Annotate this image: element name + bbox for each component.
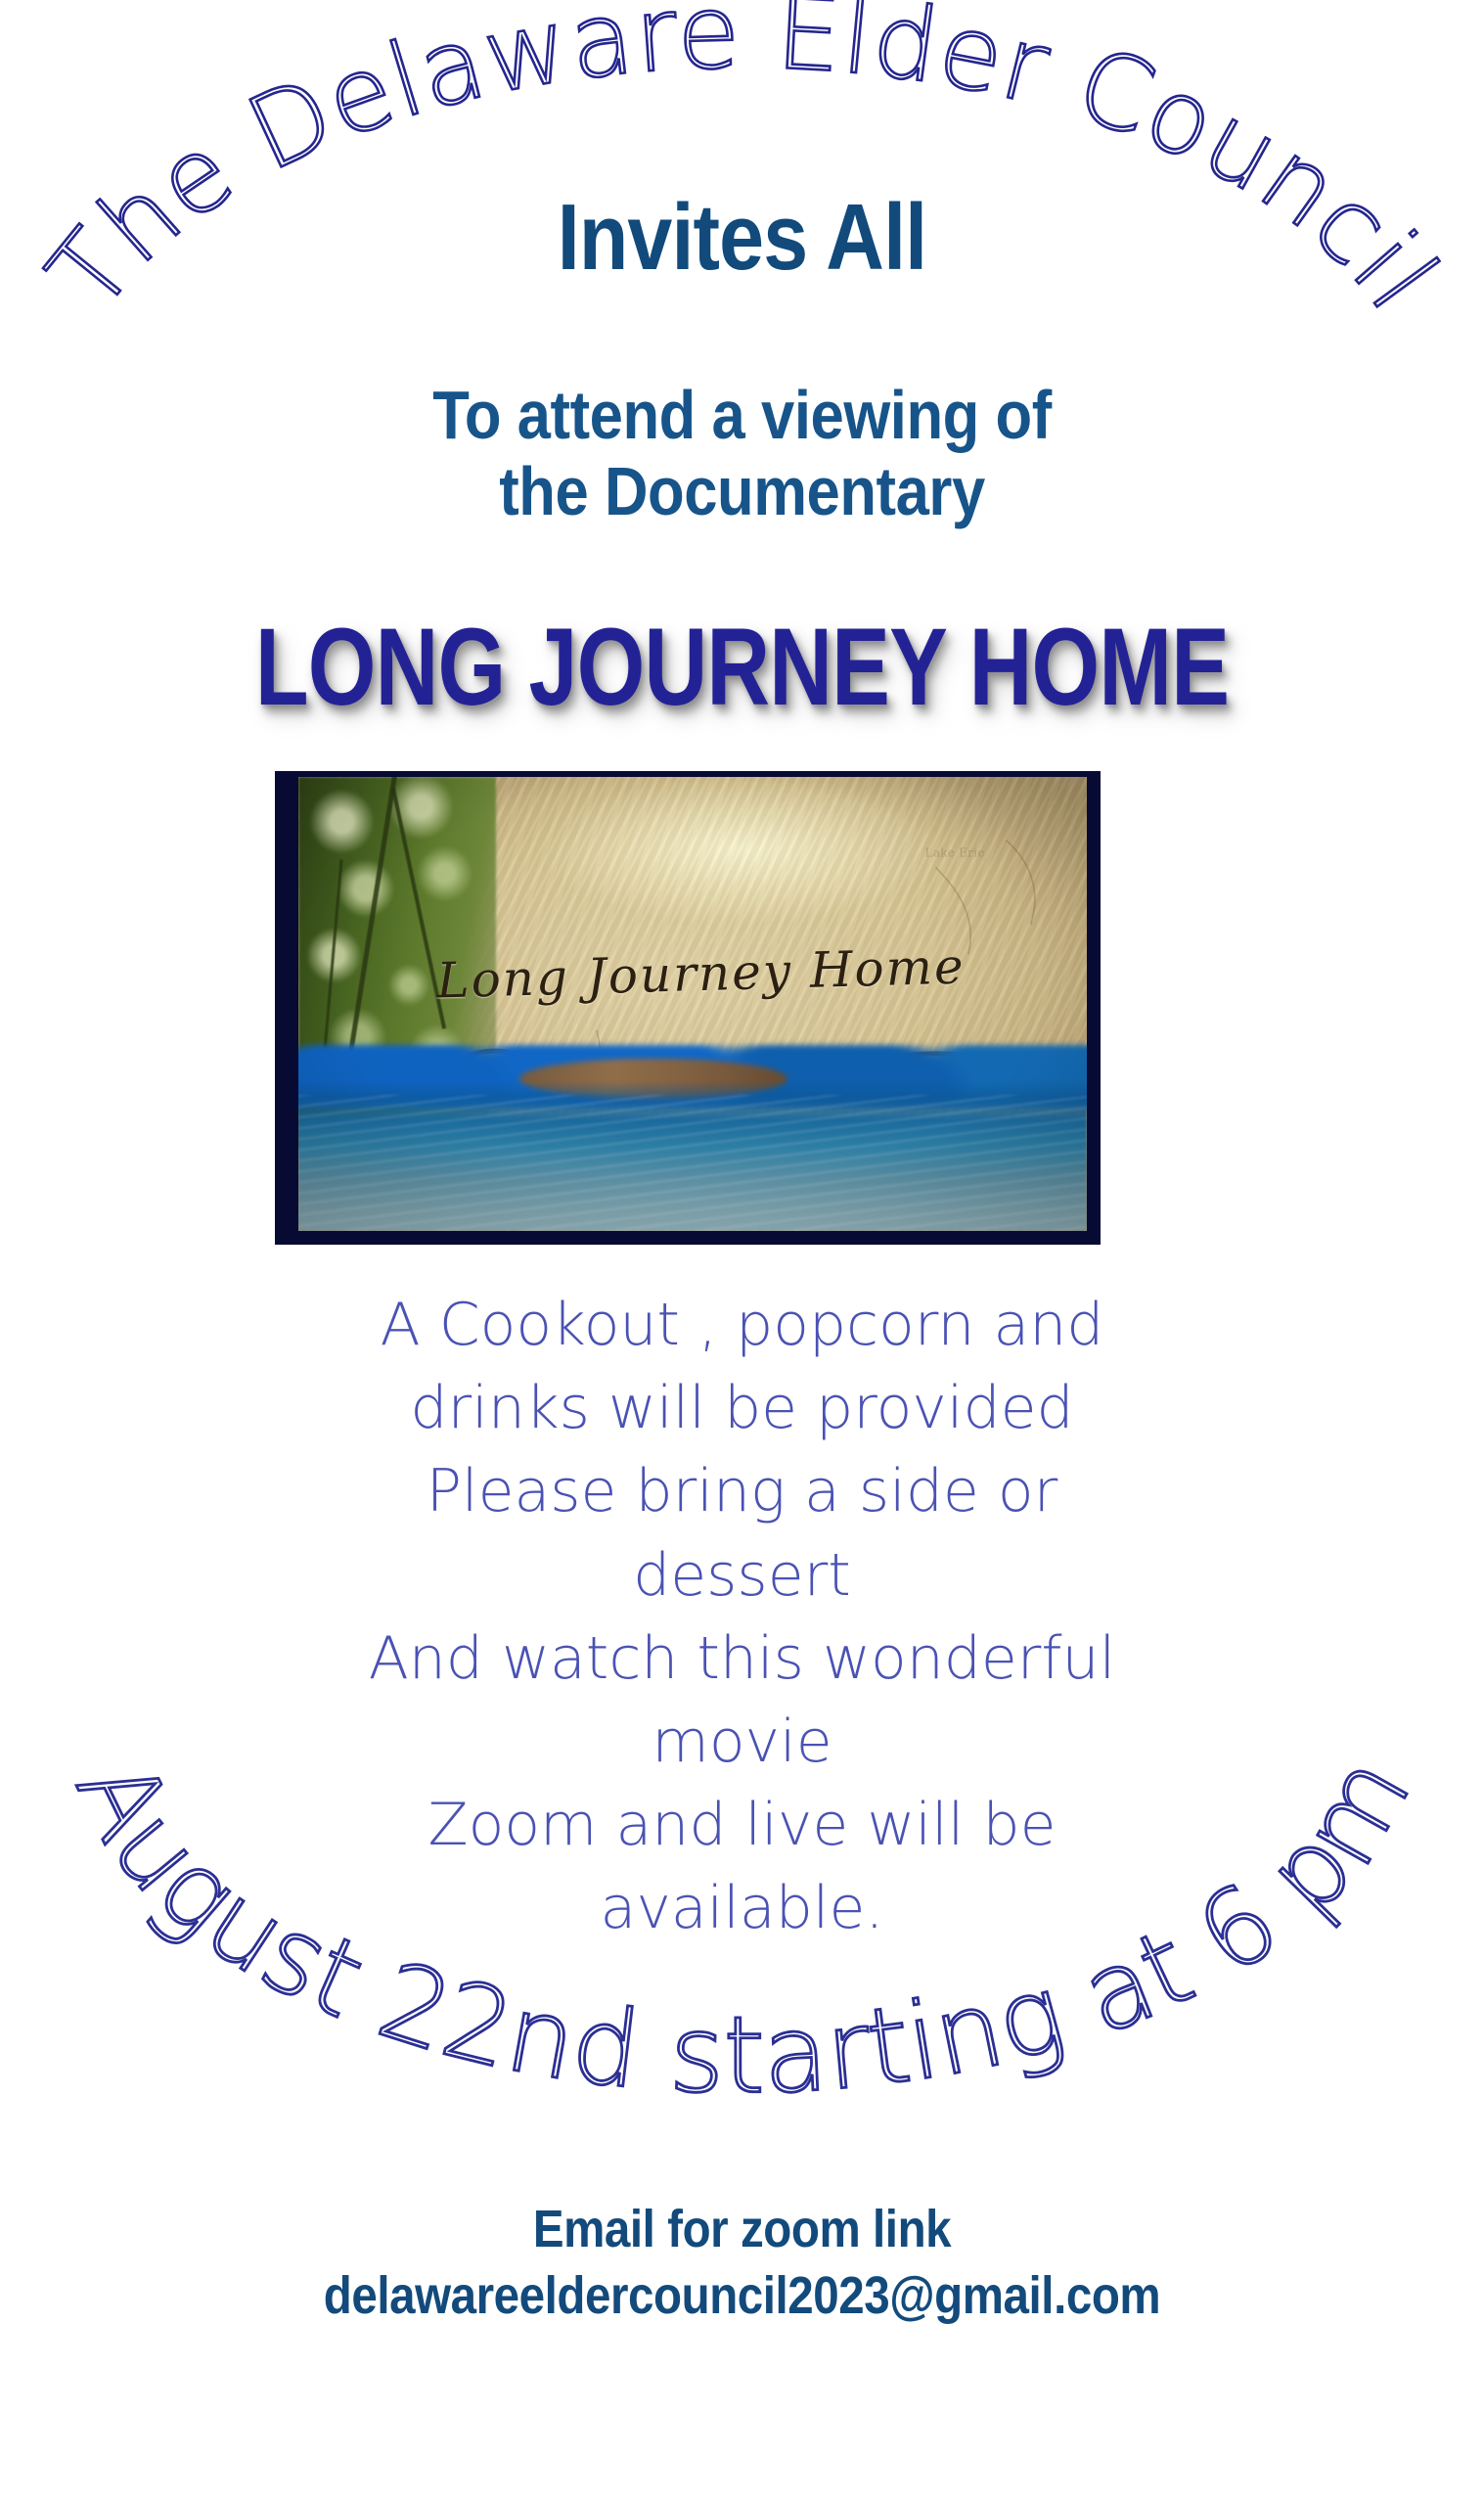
poster-vignette: [298, 777, 1087, 1231]
flyer-canvas: The Delaware Elder Council Invites All T…: [0, 0, 1484, 2505]
detail-line: A Cookout , popcorn and: [0, 1284, 1484, 1367]
detail-line: movie: [0, 1701, 1484, 1784]
email-address[interactable]: delawareeldercouncil2023@gmail.com: [89, 2263, 1395, 2330]
detail-line: And watch this wonderful: [0, 1617, 1484, 1701]
poster-image: Indianapolis Lake Erie Bay Long Journey …: [298, 777, 1087, 1231]
attend-line-1: To attend a viewing of: [432, 377, 1052, 453]
invites-heading: Invites All: [104, 191, 1380, 285]
detail-line: drinks will be provided: [0, 1367, 1484, 1450]
event-details-text: A Cookout , popcorn and drinks will be p…: [0, 1284, 1484, 1951]
poster-frame: Indianapolis Lake Erie Bay Long Journey …: [275, 771, 1101, 1245]
attend-line-2: the Documentary: [499, 453, 985, 529]
detail-line: available.: [0, 1867, 1484, 1950]
detail-line: Zoom and live will be: [0, 1784, 1484, 1867]
movie-title: LONG JOURNEY HOME: [149, 613, 1336, 722]
contact-footer: Email for zoom link delawareeldercouncil…: [89, 2197, 1395, 2329]
detail-line: Please bring a side or: [0, 1450, 1484, 1533]
email-prompt: Email for zoom link: [89, 2197, 1395, 2263]
attend-subheading: To attend a viewing of the Documentary: [89, 377, 1395, 530]
detail-line: dessert: [0, 1534, 1484, 1617]
